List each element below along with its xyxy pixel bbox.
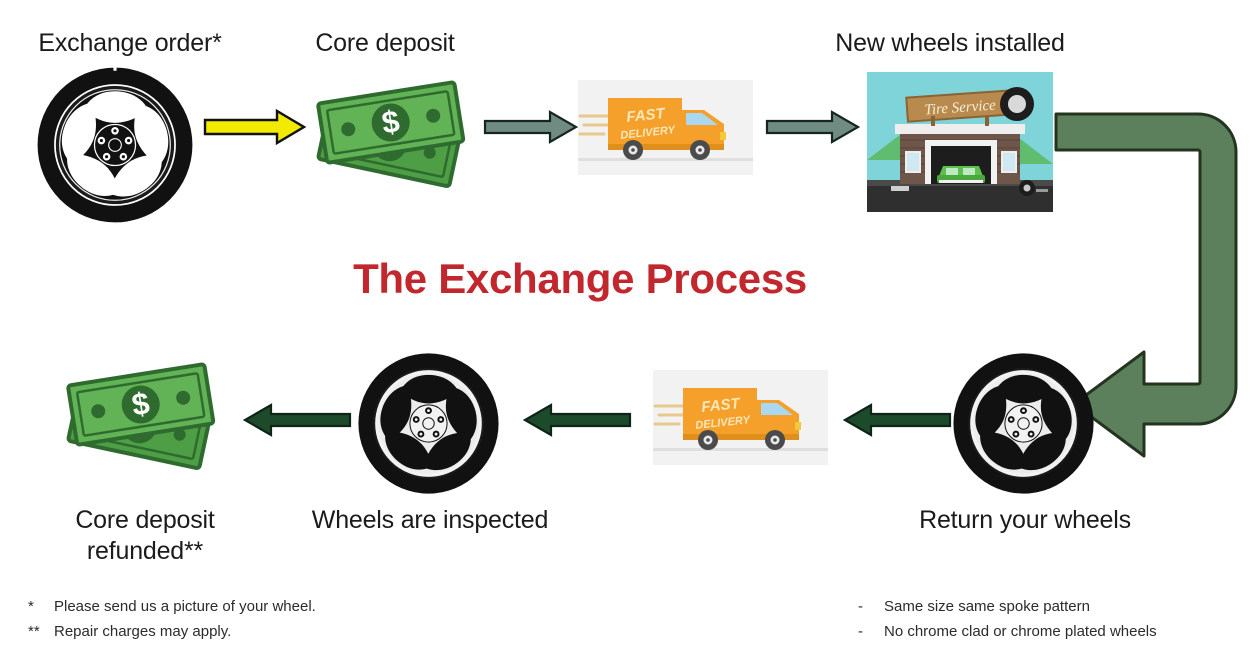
notes-left: * Please send us a picture of your wheel… [28,595,316,645]
arrow-return-to-shipping-back [843,403,951,437]
note-text: No chrome clad or chrome plated wheels [884,620,1157,645]
note-mark: * [28,595,54,620]
note-left-row: * Please send us a picture of your wheel… [28,595,316,620]
arrow-shipping-back-to-inspection [523,403,631,437]
notes-right: - Same size same spoke pattern - No chro… [858,595,1157,645]
step-label-new-wheels-installed: New wheels installed [805,28,1095,59]
step-label-return-your-wheels: Return your wheels [880,505,1170,536]
step-label-core-deposit: Core deposit [270,28,500,59]
silver-alloy-wheel-icon-inspected [357,352,500,495]
note-text: Repair charges may apply. [54,620,231,645]
note-right-row: - No chrome clad or chrome plated wheels [858,620,1157,645]
silver-alloy-wheel-icon-return [952,352,1095,495]
fast-delivery-truck-icon: FAST DELIVERY [578,80,753,175]
exchange-process-diagram: Exchange order* Core deposit New wheels … [0,0,1250,666]
arrow-deposit-to-shipping [484,110,578,144]
step-label-wheels-are-inspected: Wheels are inspected [290,505,570,536]
arrow-inspection-to-refund [243,403,351,437]
note-left-row: ** Repair charges may apply. [28,620,316,645]
note-right-row: - Same size same spoke pattern [858,595,1157,620]
note-mark: - [858,595,884,620]
note-text: Please send us a picture of your wheel. [54,595,316,620]
cash-money-icon-refund: $ $ [58,350,230,490]
arrow-exchange-to-deposit [203,108,307,146]
page-title: The Exchange Process [300,255,860,303]
note-mark: ** [28,620,54,645]
tire-service-shop-icon: Tire Service [867,72,1053,212]
black-alloy-wheel-icon [36,66,194,224]
step-label-core-deposit-refunded: Core deposit refunded** [30,505,260,566]
note-mark: - [858,620,884,645]
arrow-shipping-to-install [766,110,860,144]
step-label-exchange-order: Exchange order* [0,28,260,59]
fast-delivery-truck-icon-return: FAST DELIVERY [653,370,828,465]
note-text: Same size same spoke pattern [884,595,1090,620]
cash-money-icon: $ $ [308,68,480,208]
